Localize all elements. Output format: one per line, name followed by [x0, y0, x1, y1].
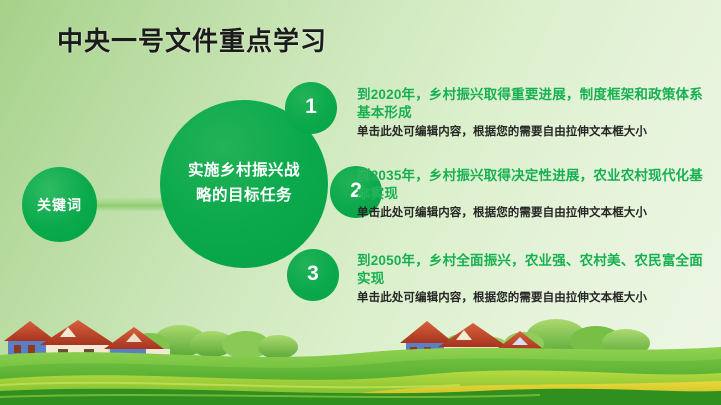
item-heading-3: 到2050年，乡村全面振兴，农业强、农村美、农民富全面实现 — [357, 252, 715, 288]
content-item-1[interactable]: 到2020年，乡村振兴取得重要进展，制度框架和政策体系基本形成 单击此处可编辑内… — [357, 86, 715, 140]
landscape-svg — [0, 295, 721, 405]
item-heading-2: 到2035年，乡村振兴取得决定性进展，农业农村现代化基本实现 — [357, 167, 715, 203]
slide-canvas: 中央一号文件重点学习 关键词 1 2 3 实施乡村振兴战 略的目标任务 到202… — [0, 0, 721, 405]
badge-number-3: 3 — [307, 262, 319, 286]
center-node-label-line1: 实施乡村振兴战 — [165, 158, 323, 183]
center-node-label: 实施乡村振兴战 略的目标任务 — [165, 158, 323, 208]
badge-node-3[interactable]: 3 — [287, 249, 339, 301]
item-subtext-2: 单击此处可编辑内容，根据您的需要自由拉伸文本框大小 — [357, 205, 715, 221]
item-subtext-1: 单击此处可编辑内容，根据您的需要自由拉伸文本框大小 — [357, 124, 715, 140]
badge-number-1: 1 — [305, 95, 317, 119]
content-item-2[interactable]: 到2035年，乡村振兴取得决定性进展，农业农村现代化基本实现 单击此处可编辑内容… — [357, 167, 715, 221]
rural-countryside-illustration — [0, 295, 721, 405]
badge-node-1[interactable]: 1 — [285, 82, 337, 134]
keyword-node[interactable]: 关键词 — [22, 167, 97, 242]
center-node-label-line2: 略的目标任务 — [165, 183, 323, 208]
item-heading-1: 到2020年，乡村振兴取得重要进展，制度框架和政策体系基本形成 — [357, 86, 715, 122]
keyword-node-label: 关键词 — [37, 195, 82, 215]
